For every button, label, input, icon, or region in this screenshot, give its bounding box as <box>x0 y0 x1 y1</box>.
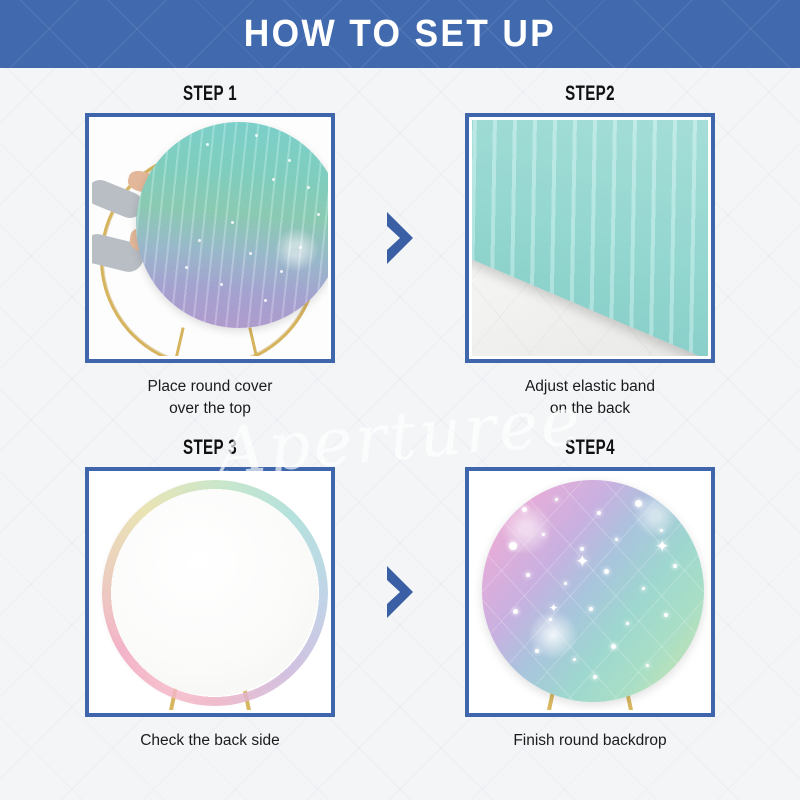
step-3-caption-line1: Check the back side <box>85 730 335 752</box>
page-title: HOW TO SET UP <box>244 13 556 56</box>
step-card-4: STEP4 <box>465 436 715 752</box>
step-3-caption: Check the back side <box>85 730 335 752</box>
step-4-frame: ✦ ✦ ✦ <box>465 467 715 717</box>
steps-grid: STEP 1 <box>0 68 800 752</box>
step-2-caption-line1: Adjust elastic band <box>465 376 715 398</box>
step-3-photo <box>92 474 328 710</box>
step-1-frame <box>85 113 335 363</box>
steps-row-2: STEP 3 Check the back side STEP4 <box>0 436 800 752</box>
gradient-cover-fabric <box>136 122 328 328</box>
step-1-caption-line2: over the top <box>85 398 335 420</box>
chevron-right-icon <box>383 564 417 620</box>
step-card-3: STEP 3 Check the back side <box>85 436 335 752</box>
step-card-1: STEP 1 <box>85 82 335 420</box>
chevron-right-icon <box>383 210 417 266</box>
arrow-step1-to-step2 <box>383 210 417 266</box>
step-1-caption: Place round cover over the top <box>85 376 335 420</box>
pastel-rim <box>102 480 328 706</box>
step-4-caption-line1: Finish round backdrop <box>465 730 715 752</box>
step-card-2: STEP2 Adjust elastic band on the back <box>465 82 715 420</box>
step-1-caption-line1: Place round cover <box>85 376 335 398</box>
step-2-caption-line2: on the back <box>465 398 715 420</box>
step-4-caption: Finish round backdrop <box>465 730 715 752</box>
step-1-photo <box>92 120 328 356</box>
step-4-photo: ✦ ✦ ✦ <box>472 474 708 710</box>
step-3-label: STEP 3 <box>120 436 300 460</box>
step-1-label: STEP 1 <box>120 82 300 106</box>
step-2-frame <box>465 113 715 363</box>
step-4-label: STEP4 <box>500 436 680 460</box>
step-2-caption: Adjust elastic band on the back <box>465 376 715 420</box>
finished-backdrop: ✦ ✦ ✦ <box>482 480 704 702</box>
arrow-step3-to-step4 <box>383 564 417 620</box>
step-2-label: STEP2 <box>500 82 680 106</box>
page-header: HOW TO SET UP <box>0 0 800 68</box>
step-2-photo <box>472 120 708 356</box>
steps-row-1: STEP 1 <box>0 82 800 420</box>
step-3-frame <box>85 467 335 717</box>
